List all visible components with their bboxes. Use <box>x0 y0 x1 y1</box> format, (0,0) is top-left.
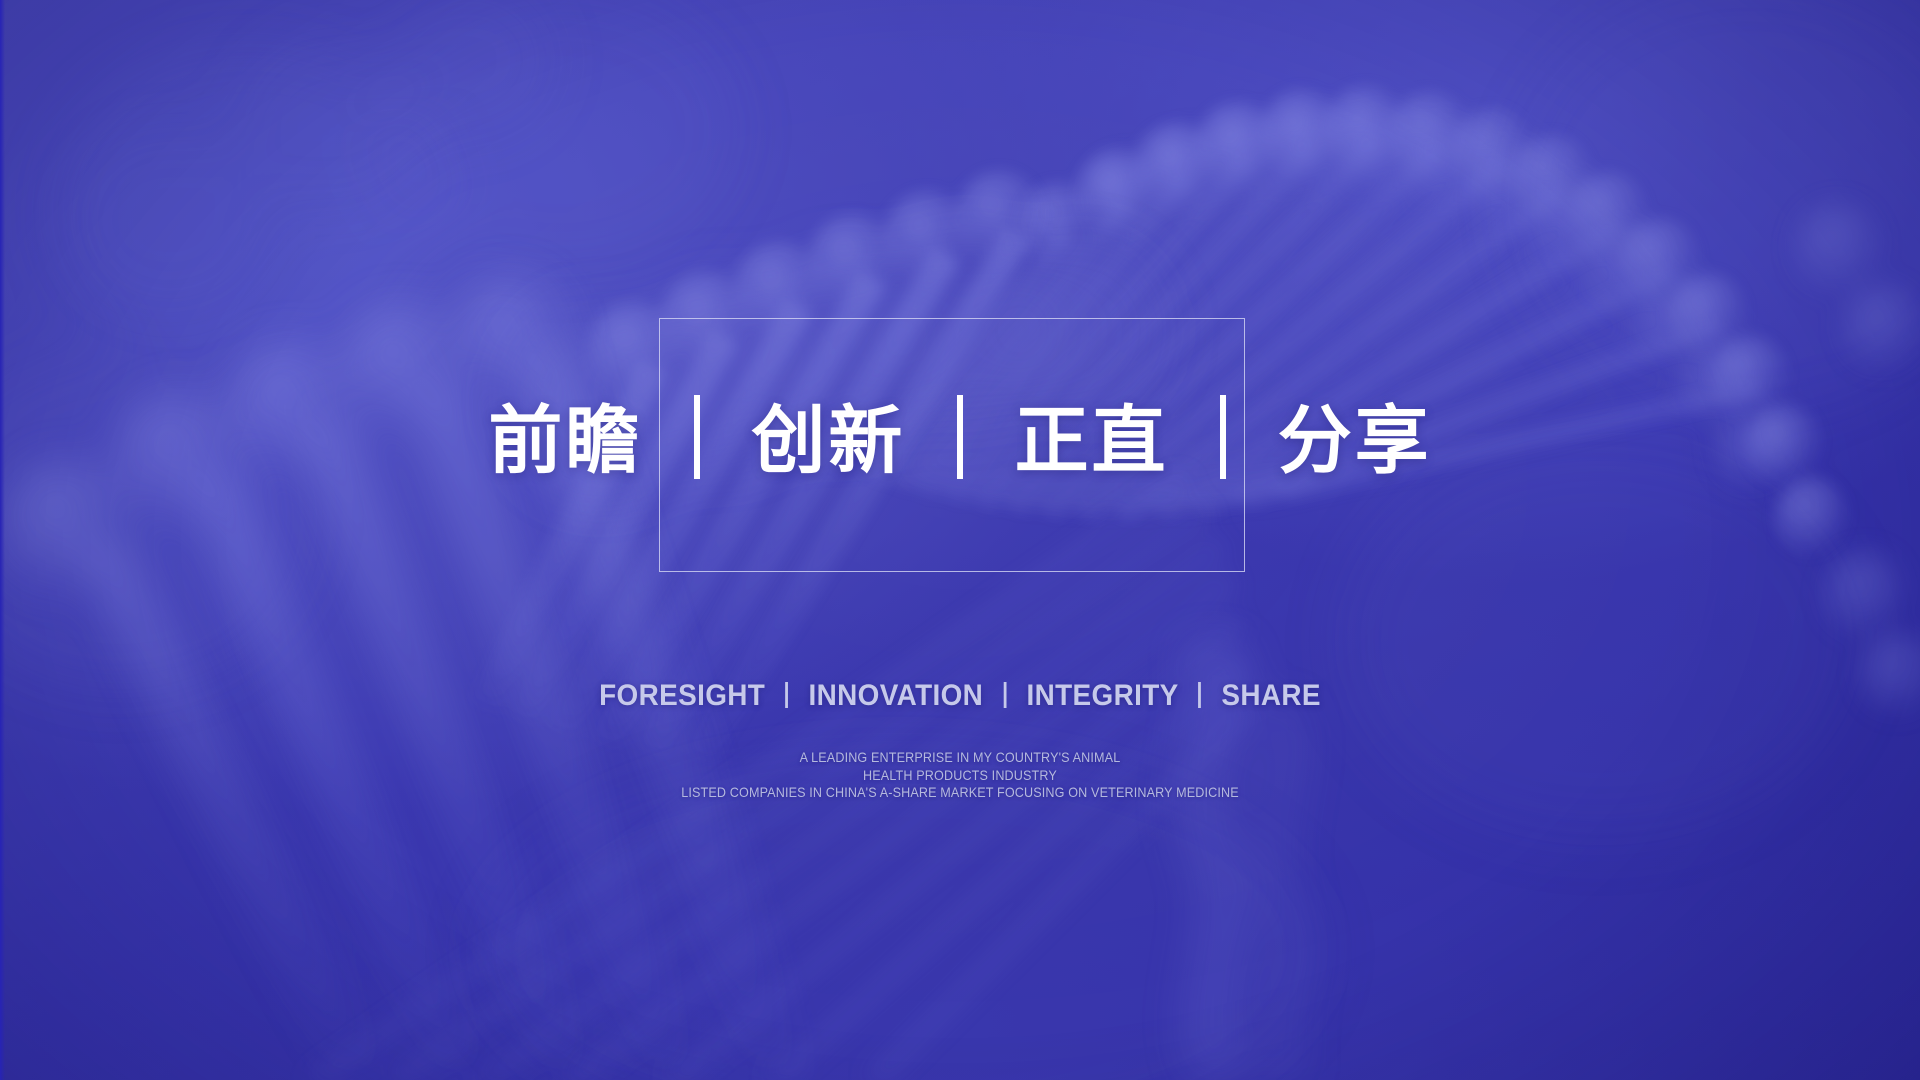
fine-print-line-2: HEALTH PRODUCTS INDUSTRY <box>96 767 1824 785</box>
subline-word-integrity: INTEGRITY <box>1026 679 1178 712</box>
headline-separator-3 <box>1220 395 1226 479</box>
subline-word-innovation: INNOVATION <box>808 679 983 712</box>
headline-word-innovation: 创新 <box>751 393 905 489</box>
subline-word-share: SHARE <box>1221 679 1321 712</box>
headline-values: 前瞻 创新 正直 分享 <box>0 388 1920 489</box>
headline-word-foresight: 前瞻 <box>488 393 642 489</box>
subline-separator-1 <box>785 682 788 708</box>
headline-separator-1 <box>694 395 700 479</box>
fine-print-block: A LEADING ENTERPRISE IN MY COUNTRY'S ANI… <box>96 749 1824 802</box>
fine-print-line-1: A LEADING ENTERPRISE IN MY COUNTRY'S ANI… <box>96 749 1824 767</box>
banner-content: 前瞻 创新 正直 分享 FORESIGHT INNOVATION INTEGRI… <box>0 0 1920 1080</box>
headline-word-share: 分享 <box>1278 393 1432 489</box>
subline-word-foresight: FORESIGHT <box>599 679 765 712</box>
headline-separator-2 <box>957 395 963 479</box>
fine-print-line-3: LISTED COMPANIES IN CHINA'S A-SHARE MARK… <box>96 784 1824 802</box>
subline-separator-2 <box>1003 682 1006 708</box>
banner-stage: 前瞻 创新 正直 分享 FORESIGHT INNOVATION INTEGRI… <box>0 0 1920 1080</box>
headline-word-integrity: 正直 <box>1015 393 1169 489</box>
subline-values-english: FORESIGHT INNOVATION INTEGRITY SHARE <box>67 679 1853 713</box>
subline-separator-3 <box>1198 682 1201 708</box>
